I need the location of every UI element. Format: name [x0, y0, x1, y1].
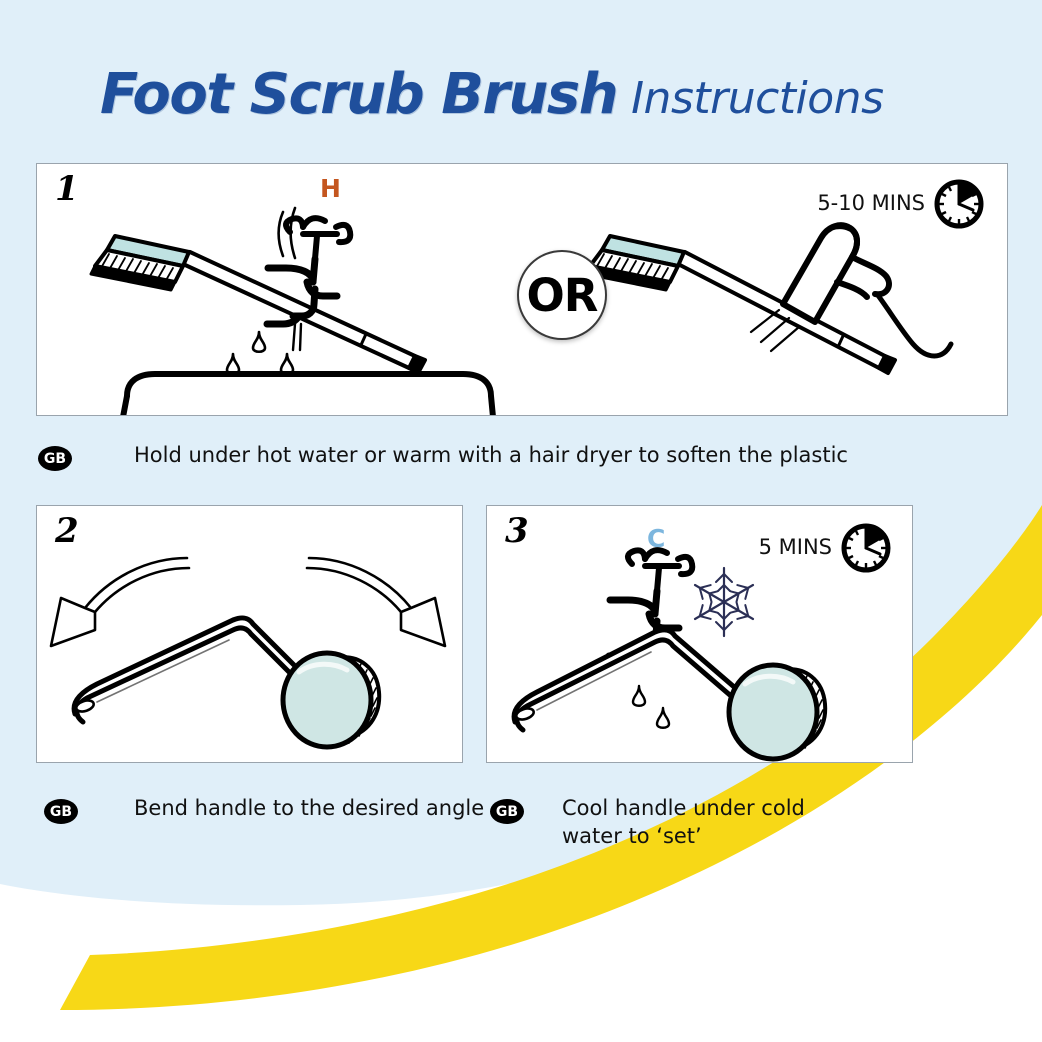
timer-label-1: 5-10 MINS: [817, 193, 925, 214]
clock-icon: [840, 522, 892, 574]
page-title: Foot Scrub Brush Instructions: [100, 62, 884, 127]
caption-text-2: Bend handle to the desired angle: [134, 795, 484, 823]
caption-text-1: Hold under hot water or warm with a hair…: [134, 442, 848, 470]
snowflake-icon: [695, 568, 753, 636]
region-badge-gb: GB: [490, 799, 524, 824]
brush-head: [283, 653, 379, 747]
instruction-sheet: Foot Scrub Brush Instructions 1 H: [0, 0, 1042, 1042]
or-label: OR: [527, 269, 598, 322]
step-panel-3: 3 C: [486, 505, 913, 763]
region-badge-gb: GB: [38, 446, 72, 471]
clock-icon: [933, 178, 985, 230]
caption-step-2: GB Bend handle to the desired angle: [44, 795, 484, 824]
bend-arrow-left: [51, 558, 189, 646]
step-panel-1: 1 H: [36, 163, 1008, 416]
step-2-illustration: [37, 506, 463, 763]
step-panel-2: 2: [36, 505, 463, 763]
timer-label-3: 5 MINS: [759, 537, 832, 558]
title-subtitle: Instructions: [631, 73, 883, 124]
caption-text-3: Cool handle under cold water to ‘set’: [562, 795, 805, 850]
timer-step-3: 5 MINS: [759, 522, 892, 574]
caption-step-3: GB Cool handle under cold water to ‘set’: [490, 795, 805, 850]
title-main: Foot Scrub Brush: [100, 62, 617, 127]
timer-step-1: 5-10 MINS: [817, 178, 985, 230]
bend-arrow-right: [307, 558, 445, 646]
brush-head: [729, 665, 825, 759]
region-badge-gb: GB: [44, 799, 78, 824]
caption-step-1: GB Hold under hot water or warm with a h…: [38, 442, 848, 471]
or-badge: OR: [517, 250, 607, 340]
